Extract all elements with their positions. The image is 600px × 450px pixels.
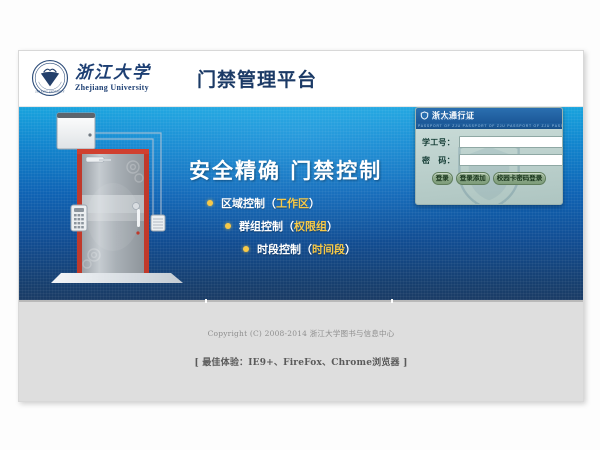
feature-item-group: 群组控制（ 权限组 ） [225, 218, 356, 234]
feature-list: 区域控制（ 工作区 ） 群组控制（ 权限组 ） 时段控制（ 时间段 ） [207, 195, 356, 264]
feature-tail: ） [309, 195, 320, 211]
student-staff-id-input[interactable] [459, 136, 563, 148]
page-root: ZHEJIANG UNIVERSITY 浙江大学 Zhejiang Univer… [0, 0, 600, 450]
bullet-icon [207, 200, 213, 206]
notch [391, 299, 393, 303]
access-control-door-illustration [49, 107, 189, 300]
zju-seal-icon: ZHEJIANG UNIVERSITY [31, 59, 69, 97]
footer-notches [19, 300, 583, 302]
login-add-button[interactable]: 登录添加 [456, 172, 490, 185]
site-header: ZHEJIANG UNIVERSITY 浙江大学 Zhejiang Univer… [19, 51, 583, 107]
feature-label: 群组控制（ [239, 218, 294, 234]
student-staff-id-label: 学工号： [422, 137, 455, 148]
feature-accent: 时间段 [312, 241, 345, 257]
footer-content: Copyright (C) 2008-2014 浙江大学图书与信息中心 [ 最佳… [19, 302, 583, 368]
copyright-text: Copyright (C) 2008-2014 浙江大学图书与信息中心 [19, 328, 583, 339]
login-button[interactable]: 登录 [432, 172, 453, 185]
password-label: 密 码： [422, 155, 455, 166]
svg-text:ZHEJIANG UNIVERSITY: ZHEJIANG UNIVERSITY [35, 90, 65, 93]
feature-label: 时段控制（ [257, 241, 312, 257]
feature-tail: ） [345, 241, 356, 257]
hero-banner: 安全精确 门禁控制 区域控制（ 工作区 ） 群组控制（ 权限组 ） 时段 [19, 107, 583, 300]
feature-item-timeslot: 时段控制（ 时间段 ） [243, 241, 356, 257]
login-button-group: 登录 登录添加 校园卡密码登录 [422, 172, 556, 185]
brand-logo[interactable]: ZHEJIANG UNIVERSITY 浙江大学 Zhejiang Univer… [31, 59, 151, 97]
browser-compat-note: [ 最佳体验：IE9+、FireFox、Chrome浏览器 ] [19, 355, 583, 368]
feature-accent: 工作区 [276, 195, 309, 211]
login-form: 学工号： 密 码： 登录 登录添加 校园卡密码登录 [416, 129, 562, 185]
brand-logo-text: 浙江大学 Zhejiang University [75, 64, 151, 92]
field-row-password: 密 码： [422, 154, 556, 166]
shield-icon [420, 111, 429, 120]
login-titlebar: 浙大通行证 PASSPORT OF ZJU [416, 108, 562, 123]
bullet-icon [225, 223, 231, 229]
bullet-icon [243, 246, 249, 252]
login-box: 浙大通行证 PASSPORT OF ZJU PASSPORT OF ZJU PA… [415, 107, 563, 205]
app-title: 门禁管理平台 [197, 65, 317, 92]
campus-card-login-button[interactable]: 校园卡密码登录 [493, 172, 547, 185]
banner-headline: 安全精确 门禁控制 [189, 155, 382, 185]
field-row-id: 学工号： [422, 136, 556, 148]
notch [205, 299, 207, 303]
feature-label: 区域控制（ [221, 195, 276, 211]
feature-tail: ） [327, 218, 338, 234]
password-input[interactable] [459, 154, 563, 166]
login-panel: 浙大通行证 PASSPORT OF ZJU PASSPORT OF ZJU PA… [415, 107, 561, 205]
feature-item-area: 区域控制（ 工作区 ） [207, 195, 356, 211]
brand-name-cn: 浙江大学 [75, 64, 151, 81]
site-card: ZHEJIANG UNIVERSITY 浙江大学 Zhejiang Univer… [18, 50, 584, 402]
login-title-en: PASSPORT OF ZJU [432, 118, 474, 122]
brand-name-en: Zhejiang University [75, 84, 151, 92]
site-footer: Copyright (C) 2008-2014 浙江大学图书与信息中心 [ 最佳… [19, 300, 583, 402]
feature-accent: 权限组 [294, 218, 327, 234]
